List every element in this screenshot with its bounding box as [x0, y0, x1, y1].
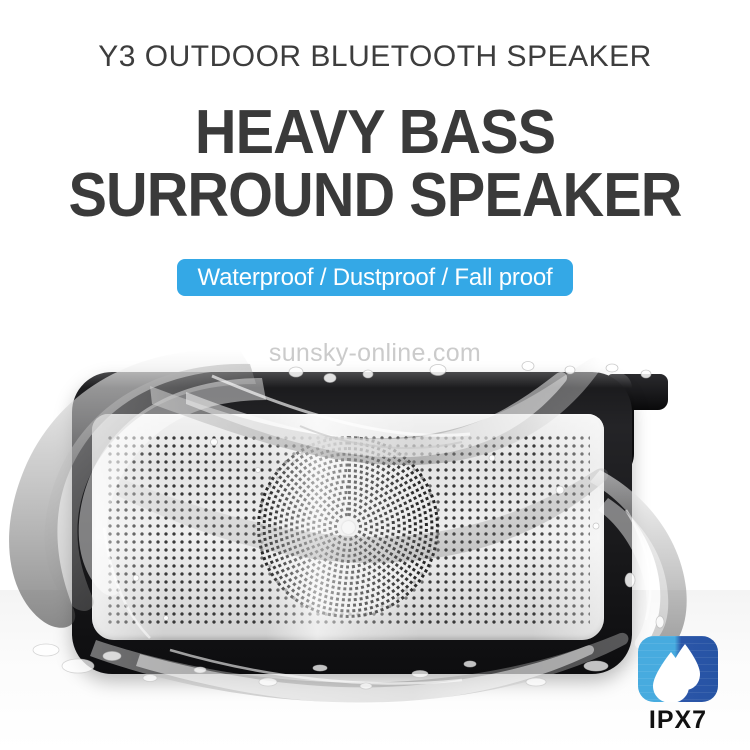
ipx7-tile [638, 636, 718, 702]
ipx7-tile-texture [638, 636, 718, 702]
product-tagline: Y3 OUTDOOR BLUETOOTH SPEAKER [0, 40, 750, 74]
site-watermark: sunsky-online.com [0, 339, 750, 368]
speaker-grille-icon [92, 414, 604, 640]
ipx7-label: IPX7 [638, 708, 718, 733]
headline-line-1: HEAVY BASS [26, 97, 724, 168]
feature-badge-container: Waterproof / Dustproof / Fall proof [0, 259, 750, 296]
ipx7-badge: IPX7 [638, 636, 718, 733]
feature-badge[interactable]: Waterproof / Dustproof / Fall proof [177, 259, 574, 296]
product-banner: Y3 OUTDOOR BLUETOOTH SPEAKER HEAVY BASS … [0, 0, 750, 750]
driver-hub-icon [342, 521, 355, 534]
headline-line-2: SURROUND SPEAKER [26, 160, 724, 231]
speaker-driver-icon [260, 439, 436, 615]
